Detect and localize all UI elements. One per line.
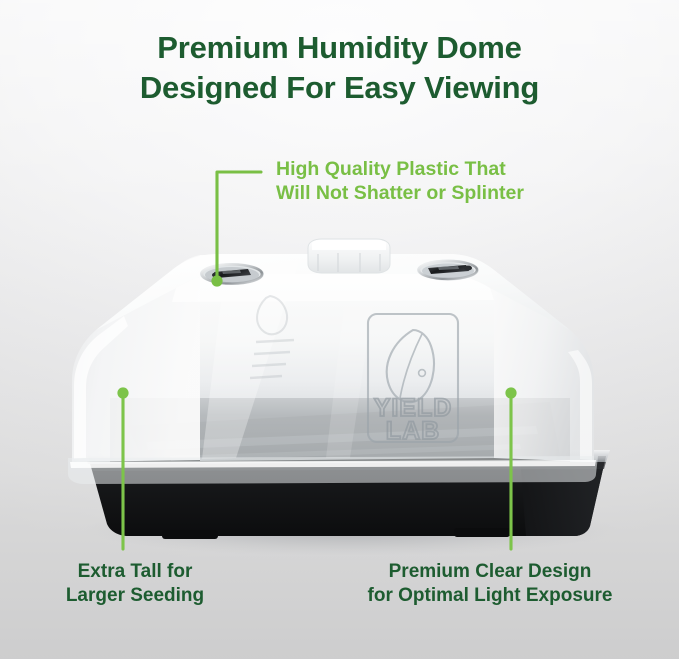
humidity-dome: YIELD LAB	[68, 239, 598, 484]
callout-extra-tall: Extra Tall for Larger Seeding	[20, 560, 250, 607]
callout-bl-line-2: Larger Seeding	[20, 584, 250, 608]
headline-line-2: Designed For Easy Viewing	[0, 68, 679, 108]
dome-skirt	[68, 456, 598, 484]
infographic-canvas: YIELD LAB	[0, 0, 679, 659]
headline-line-1: Premium Humidity Dome	[0, 28, 679, 68]
dome-handle	[308, 239, 390, 273]
handle-highlight	[312, 240, 386, 250]
tray-foot-left	[162, 530, 218, 539]
callout-premium-clear-design: Premium Clear Design for Optimal Light E…	[345, 560, 635, 607]
page-title: Premium Humidity Dome Designed For Easy …	[0, 28, 679, 107]
callout-br-line-1: Premium Clear Design	[345, 560, 635, 584]
callout-high-quality-plastic: High Quality Plastic That Will Not Shatt…	[276, 157, 524, 205]
product-image: YIELD LAB	[50, 230, 630, 550]
brand-text-lab: LAB	[386, 417, 440, 445]
callout-bl-line-1: Extra Tall for	[20, 560, 250, 584]
vent-right	[417, 260, 479, 281]
callout-br-line-2: for Optimal Light Exposure	[345, 584, 635, 608]
vent-left	[200, 263, 264, 285]
callout-top-line-1: High Quality Plastic That	[276, 157, 524, 181]
tray-foot-right	[454, 528, 510, 537]
callout-top-line-2: Will Not Shatter or Splinter	[276, 181, 524, 205]
